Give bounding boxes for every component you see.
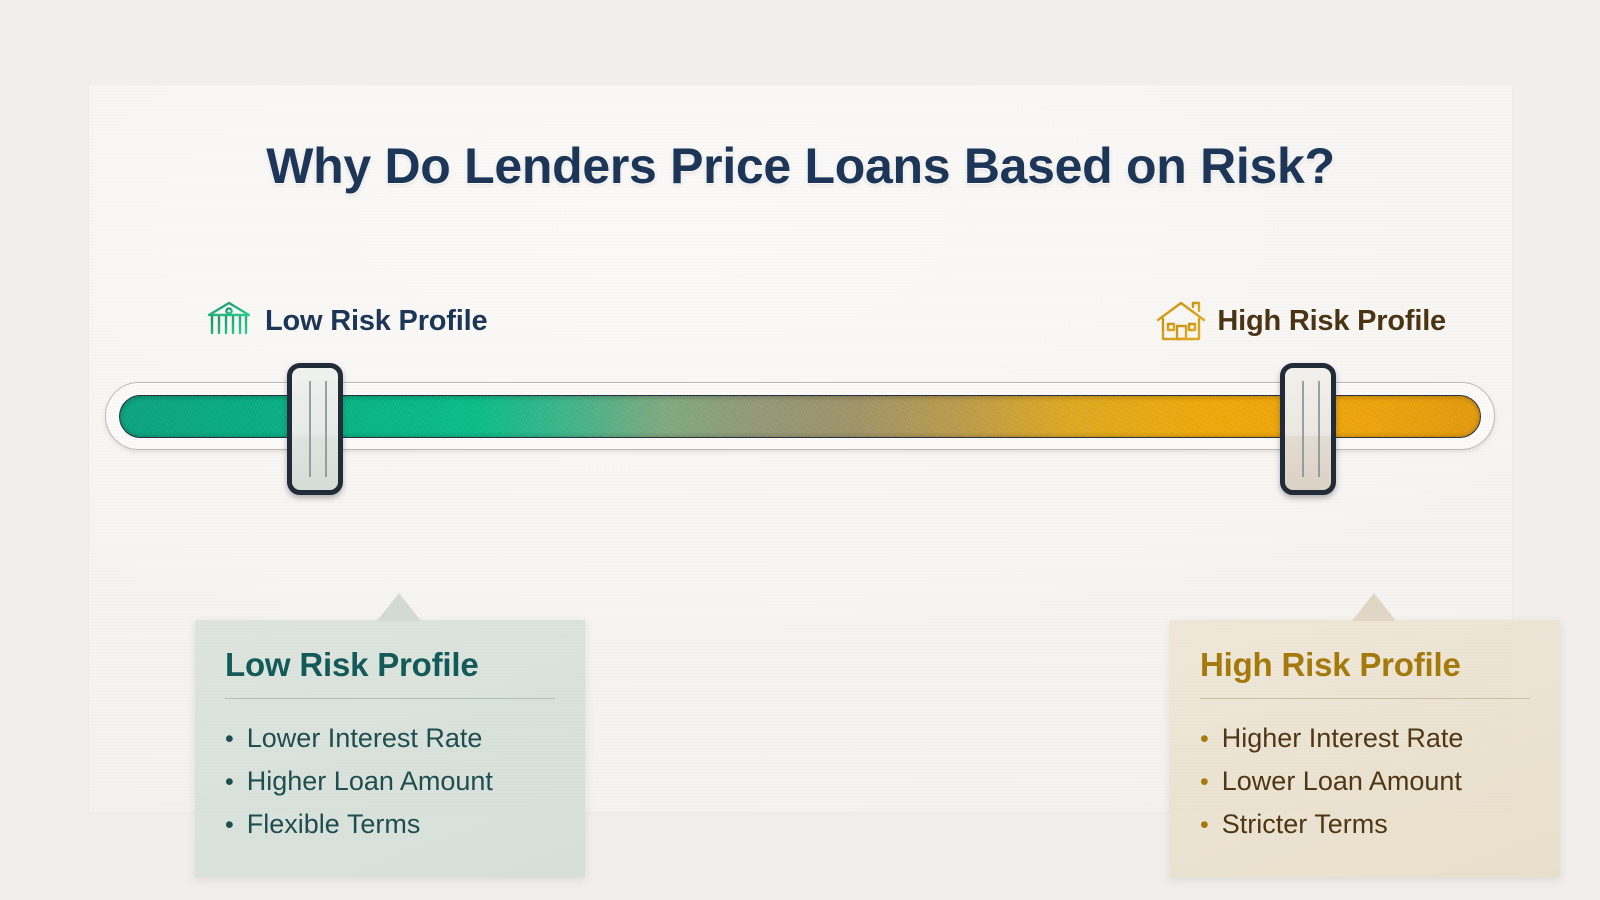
grip-line-icon xyxy=(1302,381,1304,477)
high-risk-drawback-list: • Higher Interest Rate • Lower Loan Amou… xyxy=(1200,717,1530,847)
bullet-icon: • xyxy=(225,813,234,838)
high-risk-endpoint-label: High Risk Profile xyxy=(1155,298,1446,344)
house-icon xyxy=(1155,298,1207,344)
list-item-label: Higher Interest Rate xyxy=(1222,717,1464,760)
bullet-icon: • xyxy=(225,727,234,752)
bank-icon xyxy=(203,298,255,344)
list-item: • Lower Loan Amount xyxy=(1200,760,1530,803)
list-item-label: Flexible Terms xyxy=(247,803,421,846)
low-risk-card: Low Risk Profile • Lower Interest Rate •… xyxy=(195,620,585,877)
grip-line-icon xyxy=(325,381,327,477)
bullet-icon: • xyxy=(1200,770,1209,795)
card-divider xyxy=(225,698,555,699)
low-risk-endpoint-label: Low Risk Profile xyxy=(203,298,487,344)
high-risk-card: High Risk Profile • Higher Interest Rate… xyxy=(1170,620,1560,877)
list-item-label: Higher Loan Amount xyxy=(247,760,493,803)
slider-handle-low-risk[interactable] xyxy=(287,363,343,495)
list-item: • Flexible Terms xyxy=(225,803,555,846)
risk-slider[interactable] xyxy=(105,363,1495,469)
callout-pointer-low xyxy=(377,593,421,621)
list-item-label: Lower Interest Rate xyxy=(247,717,483,760)
list-item: • Lower Interest Rate xyxy=(225,717,555,760)
bullet-icon: • xyxy=(1200,813,1209,838)
high-risk-card-title: High Risk Profile xyxy=(1200,646,1530,684)
low-risk-endpoint-text: Low Risk Profile xyxy=(265,305,487,338)
list-item: • Higher Loan Amount xyxy=(225,760,555,803)
list-item-label: Stricter Terms xyxy=(1222,803,1388,846)
grip-line-icon xyxy=(309,381,311,477)
high-risk-endpoint-text: High Risk Profile xyxy=(1217,305,1446,338)
low-risk-benefit-list: • Lower Interest Rate • Higher Loan Amou… xyxy=(225,717,555,847)
bullet-icon: • xyxy=(225,770,234,795)
card-divider xyxy=(1200,698,1530,699)
list-item: • Stricter Terms xyxy=(1200,803,1530,846)
list-item: • Higher Interest Rate xyxy=(1200,717,1530,760)
list-item-label: Lower Loan Amount xyxy=(1222,760,1462,803)
low-risk-card-title: Low Risk Profile xyxy=(225,646,555,684)
infographic-panel: Why Do Lenders Price Loans Based on Risk… xyxy=(89,85,1512,812)
callout-pointer-high xyxy=(1352,593,1396,621)
page-title: Why Do Lenders Price Loans Based on Risk… xyxy=(89,137,1512,195)
bullet-icon: • xyxy=(1200,727,1209,752)
slider-handle-high-risk[interactable] xyxy=(1280,363,1336,495)
grip-line-icon xyxy=(1318,381,1320,477)
